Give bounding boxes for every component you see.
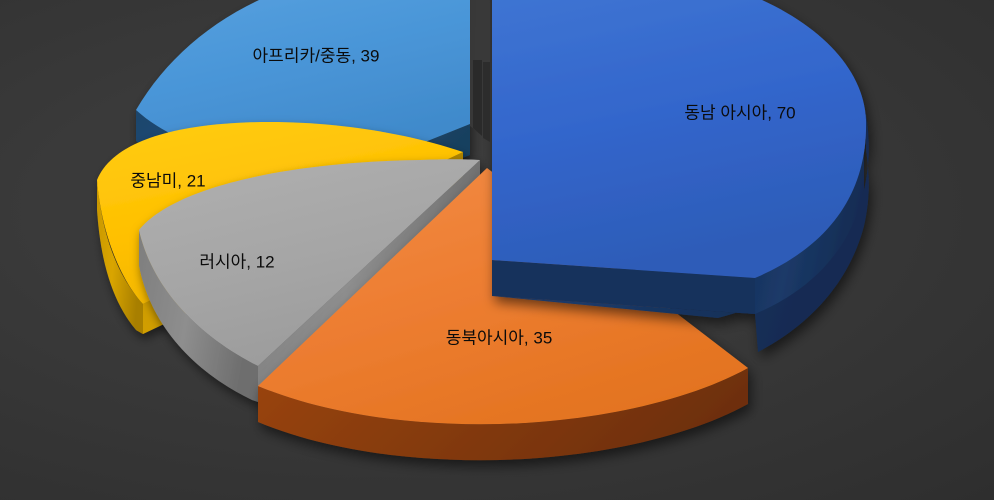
pie-chart-graphic bbox=[0, 0, 994, 500]
pie-chart-container: 동남 아시아, 70 동북아시아, 35 러시아, 12 중남미, 21 아프리… bbox=[0, 0, 994, 500]
slice-separation-gap bbox=[470, 0, 490, 142]
pie-slice-southeast-asia[interactable] bbox=[492, 0, 869, 352]
